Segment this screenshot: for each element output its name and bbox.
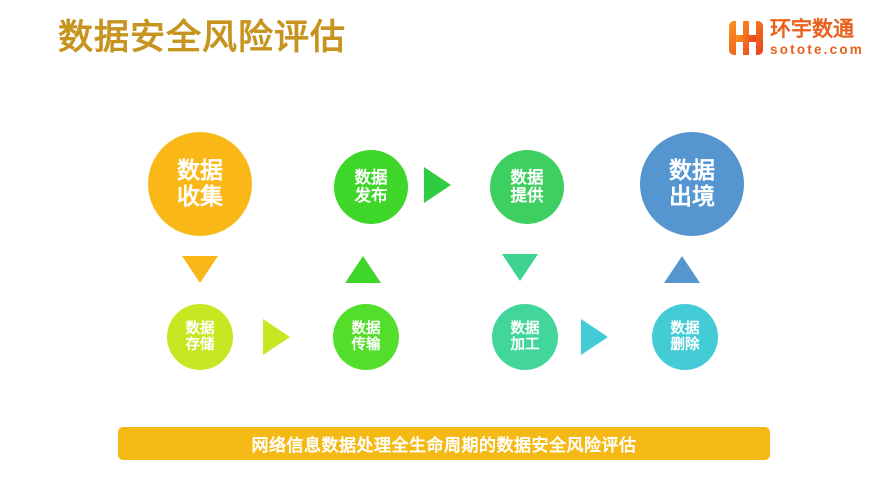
footer-caption-text: 网络信息数据处理全生命周期的数据安全风险评估: [252, 431, 637, 456]
footer-caption-banner: 网络信息数据处理全生命周期的数据安全风险评估: [118, 427, 770, 460]
node-label-line1: 数据: [511, 321, 540, 337]
node-label-line1: 数据: [355, 169, 388, 187]
node-publish[interactable]: 数据发布: [334, 150, 408, 224]
node-export[interactable]: 数据出境: [640, 132, 744, 236]
arrow-delete-to-export: [664, 256, 700, 283]
node-label-line2: 提供: [511, 187, 544, 205]
node-store[interactable]: 数据存储: [167, 304, 233, 370]
node-label-line2: 加工: [511, 337, 540, 353]
node-delete[interactable]: 数据删除: [652, 304, 718, 370]
arrow-process-to-delete: [581, 319, 608, 355]
node-transmit[interactable]: 数据传输: [333, 304, 399, 370]
arrow-provide-to-process: [502, 254, 538, 281]
node-label-line2: 删除: [671, 337, 700, 353]
arrow-store-to-transmit: [263, 319, 290, 355]
node-label-line2: 出境: [669, 184, 715, 210]
node-label-line2: 收集: [177, 184, 223, 210]
node-collect[interactable]: 数据收集: [148, 132, 252, 236]
node-label-line2: 存储: [186, 337, 215, 353]
arrow-transmit-to-publish: [345, 256, 381, 283]
node-label-line1: 数据: [511, 169, 544, 187]
node-label-line2: 发布: [355, 187, 388, 205]
node-label-line1: 数据: [186, 321, 215, 337]
node-process[interactable]: 数据加工: [492, 304, 558, 370]
arrow-publish-to-provide: [424, 167, 451, 203]
node-label-line2: 传输: [352, 337, 381, 353]
node-label-line1: 数据: [671, 321, 700, 337]
arrow-collect-to-store: [182, 256, 218, 283]
lifecycle-diagram: 数据收集数据发布数据提供数据出境数据存储数据传输数据加工数据删除: [0, 0, 888, 500]
node-provide[interactable]: 数据提供: [490, 150, 564, 224]
h-logo-crossbar: [736, 35, 756, 42]
node-label-line1: 数据: [352, 321, 381, 337]
node-label-line1: 数据: [177, 158, 223, 184]
node-label-line1: 数据: [669, 158, 715, 184]
